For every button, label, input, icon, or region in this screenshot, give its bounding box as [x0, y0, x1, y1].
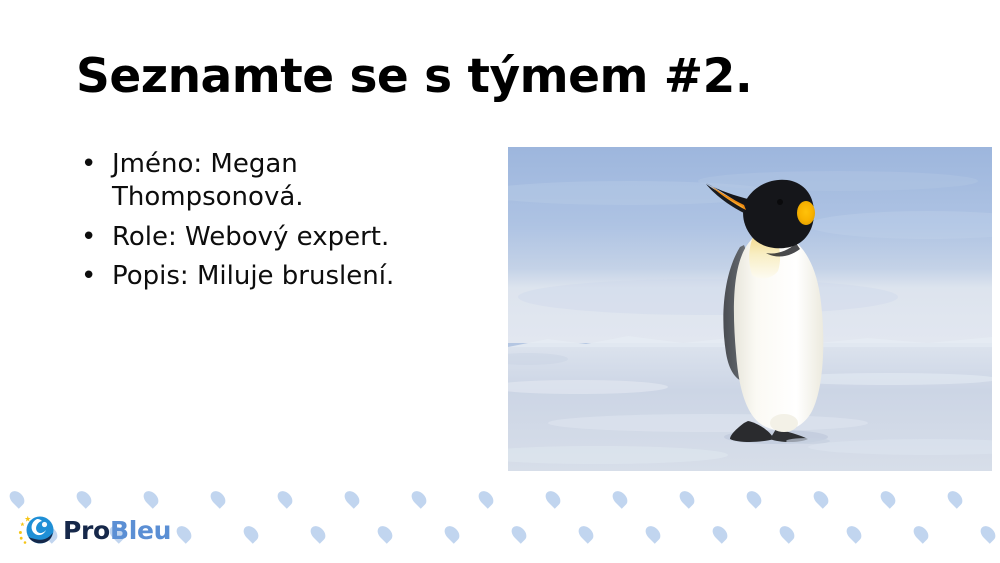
droplet-icon — [777, 523, 798, 544]
list-item-text: Role: Webový expert. — [112, 222, 389, 252]
logo-word-bleu: Bleu — [110, 516, 171, 545]
droplet-icon — [677, 488, 698, 509]
droplet-icon — [811, 488, 832, 509]
droplet-icon — [878, 488, 899, 509]
droplet-icon — [442, 523, 463, 544]
droplet-icon — [978, 523, 999, 544]
list-item-text: Popis: Miluje bruslení. — [112, 261, 394, 291]
droplet-icon — [509, 523, 530, 544]
penguin-photo-graphic — [508, 147, 992, 471]
bullet-marker-icon: • — [81, 260, 96, 293]
droplet-icon — [241, 523, 262, 544]
droplet-icon — [710, 523, 731, 544]
droplet-icon — [643, 523, 664, 544]
droplet-icon — [308, 523, 329, 544]
droplet-icon — [744, 488, 765, 509]
droplet-icon — [610, 488, 631, 509]
droplet-icon — [945, 488, 966, 509]
penguin-photo — [508, 147, 992, 471]
droplet-icon — [141, 488, 162, 509]
list-item: • Popis: Miluje bruslení. — [76, 260, 476, 293]
droplet-icon — [375, 523, 396, 544]
slide: Seznamte se s týmem #2. • Jméno: Megan T… — [0, 0, 1000, 563]
droplet-icon — [576, 523, 597, 544]
logo-word-pro: Pro — [63, 516, 110, 545]
droplet-icon — [342, 488, 363, 509]
droplet-icon — [409, 488, 430, 509]
droplet-icon — [74, 488, 95, 509]
droplet-icon — [208, 488, 229, 509]
probleu-globe-icon — [16, 510, 56, 550]
bullet-marker-icon: • — [81, 148, 96, 181]
droplet-icon — [844, 523, 865, 544]
droplet-icon — [7, 488, 28, 509]
droplet-icon — [911, 523, 932, 544]
droplet-icon — [275, 488, 296, 509]
bullet-marker-icon: • — [81, 221, 96, 254]
droplet-icon — [476, 488, 497, 509]
logo-wordmark: ProBleu — [63, 518, 171, 543]
list-item: • Jméno: Megan Thompsonová. — [76, 148, 476, 215]
droplet-icon — [174, 523, 195, 544]
page-title: Seznamte se s týmem #2. — [76, 50, 926, 104]
probleu-logo: ProBleu — [16, 510, 171, 550]
droplet-icon — [543, 488, 564, 509]
list-item-text: Jméno: Megan Thompsonová. — [112, 149, 304, 212]
list-item: • Role: Webový expert. — [76, 221, 476, 254]
bullet-list: • Jméno: Megan Thompsonová. • Role: Webo… — [76, 148, 476, 299]
